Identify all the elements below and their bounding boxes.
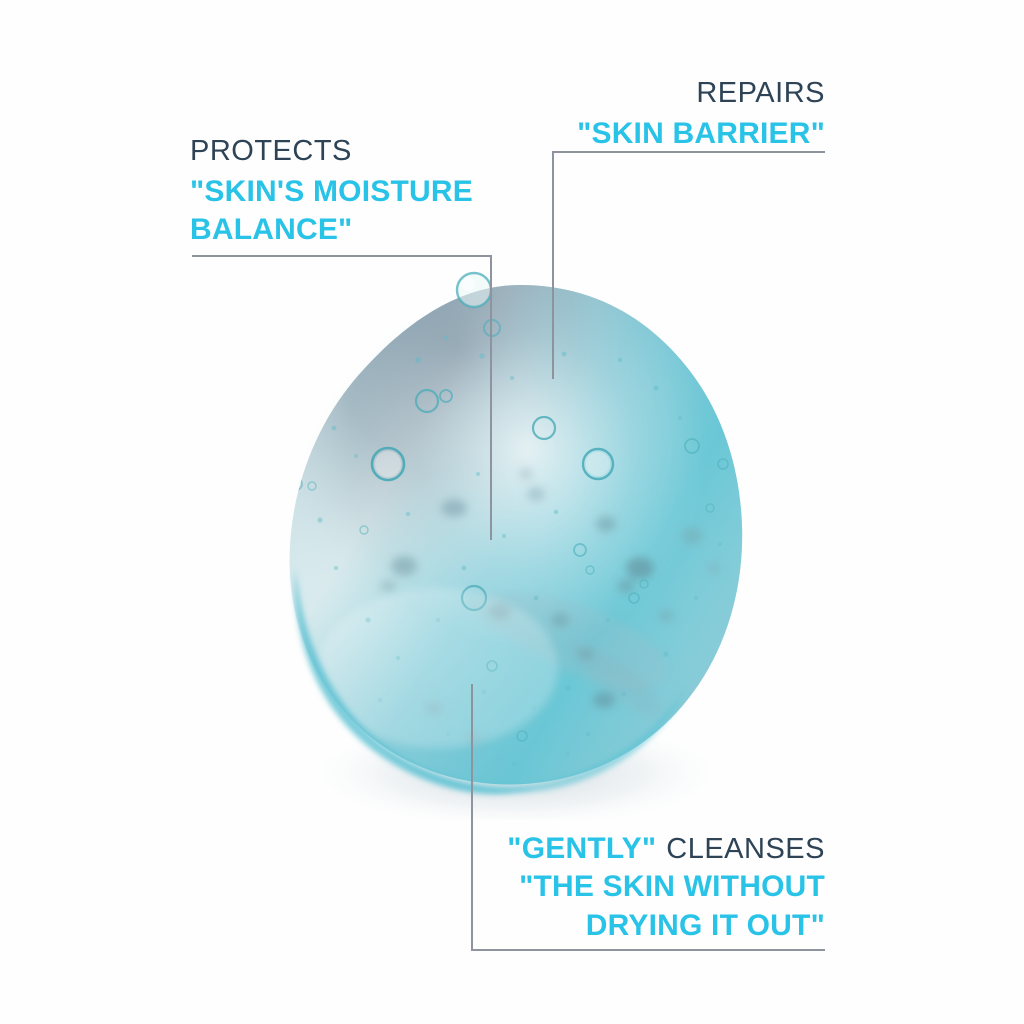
protects-connector-horizontal (192, 255, 492, 257)
callout-protects-quote-line-2: BALANCE" (190, 211, 473, 249)
cleanses-connector-vertical (471, 684, 473, 951)
gel-ground-shadow (301, 715, 731, 820)
callout-repairs-quote-line-1: "SKIN BARRIER" (577, 115, 825, 153)
callout-cleanses-line-1: "GENTLY"CLEANSES (507, 830, 825, 868)
gel-bottom-rim (295, 568, 686, 794)
infographic-canvas: PROTECTS "SKIN'S MOISTURE BALANCE" REPAI… (0, 0, 1024, 1024)
callout-cleanses-lead: CLEANSES (666, 833, 825, 865)
callout-protects: PROTECTS "SKIN'S MOISTURE BALANCE" (190, 137, 473, 250)
gel-bubbles-dots (317, 336, 722, 766)
protects-connector-vertical (490, 255, 492, 540)
gel-specks (380, 468, 722, 745)
gel-droplet-svg (268, 268, 768, 820)
callout-repairs-lead: REPAIRS (577, 79, 825, 108)
callout-cleanses-quote-gently: "GENTLY" (507, 832, 656, 865)
callout-cleanses-quote-line-3: DRYING IT OUT" (507, 907, 825, 945)
gel-body (268, 268, 768, 820)
gel-top-edge-bubble (457, 273, 491, 307)
callout-protects-quote-line-1: "SKIN'S MOISTURE (190, 173, 473, 211)
callout-repairs: REPAIRS "SKIN BARRIER" (577, 79, 825, 153)
gel-top-edge-bubble-small (484, 320, 500, 336)
callout-protects-lead: PROTECTS (190, 137, 473, 166)
gel-bubbles-rings (290, 390, 728, 741)
callout-cleanses-quote-line-2: "THE SKIN WITHOUT (507, 868, 825, 906)
cleanses-connector-horizontal (471, 949, 825, 951)
gel-fold-streak (464, 593, 666, 690)
gel-halo (281, 278, 754, 794)
gel-droplet-image (268, 268, 768, 820)
repairs-connector-vertical (552, 151, 554, 379)
callout-cleanses: "GENTLY"CLEANSES "THE SKIN WITHOUT DRYIN… (507, 830, 825, 945)
